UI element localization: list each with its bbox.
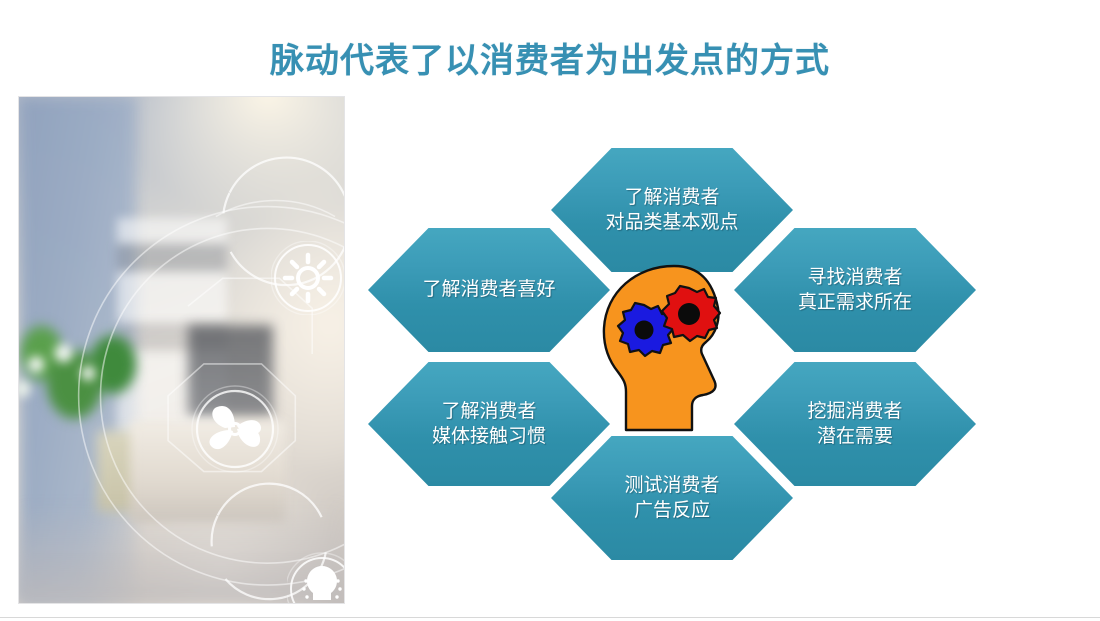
hexagon-right-upper[interactable]: 寻找消费者 真正需求所在	[734, 228, 976, 352]
hexagon-bottom[interactable]: 测试消费者 广告反应	[551, 436, 793, 560]
interior-photo-panel	[18, 96, 345, 604]
hexagon-left-upper-label: 了解消费者喜好	[418, 277, 559, 302]
hexagon-left-lower[interactable]: 了解消费者 媒体接触习惯	[368, 362, 610, 486]
smart-home-hud-overlay	[19, 97, 344, 603]
hexagon-top-label: 了解消费者 对品类基本观点	[601, 185, 742, 235]
brightness-sun-icon	[271, 241, 345, 315]
hexagon-bottom-label: 测试消费者 广告反应	[620, 473, 723, 523]
fan-icon	[191, 385, 279, 473]
hexagon-right-lower[interactable]: 挖掘消费者 潜在需要	[734, 362, 976, 486]
hexagon-right-upper-label: 寻找消费者 真正需求所在	[794, 265, 916, 315]
head-gears-icon	[596, 262, 756, 438]
consumer-insight-hexagon-diagram: 了解消费者 对品类基本观点 了解消费者喜好 了解消费者 媒体接触习惯 寻找消费者…	[360, 140, 1020, 580]
hexagon-top[interactable]: 了解消费者 对品类基本观点	[551, 148, 793, 272]
page-title: 脉动代表了以消费者为出发点的方式	[0, 33, 1100, 82]
slide-bottom-divider	[0, 617, 1100, 618]
hexagon-left-lower-label: 了解消费者 媒体接触习惯	[428, 399, 550, 449]
slide-canvas: 脉动代表了以消费者为出发点的方式	[0, 0, 1100, 621]
hexagon-right-lower-label: 挖掘消费者 潜在需要	[803, 399, 906, 449]
lightbulb-icon	[287, 549, 345, 604]
hexagon-left-upper[interactable]: 了解消费者喜好	[368, 228, 610, 352]
